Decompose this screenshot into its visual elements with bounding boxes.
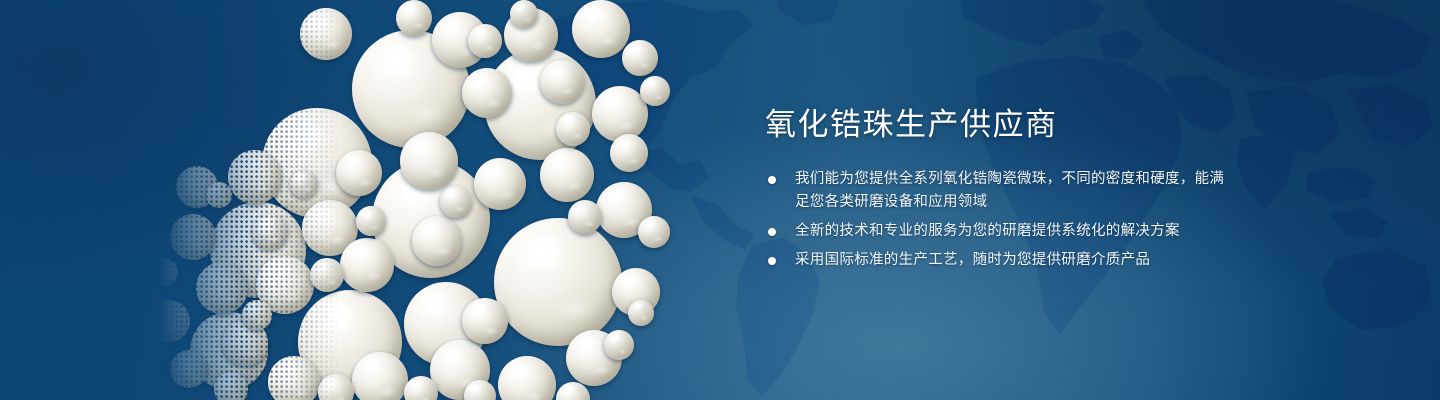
bullet-dot-icon [768,228,776,236]
bead [170,214,216,260]
banner-feature-list: 我们能为您提供全系列氧化锆陶瓷微珠，不同的密度和硬度，能满足您各类研磨设备和应用… [765,168,1235,278]
list-item-label: 我们能为您提供全系列氧化锆陶瓷微珠，不同的密度和硬度，能满足您各类研磨设备和应用… [795,168,1235,214]
bead [340,238,394,292]
bead [252,214,288,250]
bead [572,0,630,58]
bead [468,24,502,58]
bead [622,40,658,76]
bead-cluster [0,0,700,400]
bead [498,356,556,400]
bead [352,352,408,400]
bead [400,132,458,190]
bullet-dot-icon [768,257,776,265]
bead [628,300,654,326]
banner-content: 氧化锆珠生产供应商 我们能为您提供全系列氧化锆陶瓷微珠，不同的密度和硬度，能满足… [765,0,1365,400]
bead [462,68,512,118]
bead [228,150,282,204]
zirconia-beads-photo [0,0,700,400]
bead [494,218,622,346]
bead [640,76,670,106]
bead [336,150,382,196]
bead [396,0,432,36]
bead [610,134,648,172]
bullet-dot-icon [768,176,776,184]
list-item: 全新的技术和专业的服务为您的研磨提供系统化的解决方案 [765,220,1235,243]
bead [440,186,472,218]
bead [268,356,320,400]
list-item: 采用国际标准的生产工艺，随时为您提供研磨介质产品 [765,249,1235,272]
bead [540,148,594,202]
bead [148,300,190,342]
banner-title: 氧化锆珠生产供应商 [765,108,1058,143]
bead [206,182,232,208]
bead [462,298,508,344]
bead [604,330,634,360]
bead [540,60,584,104]
list-item-label: 采用国际标准的生产工艺，随时为您提供研磨介质产品 [795,249,1235,272]
bead [196,262,248,314]
hero-banner: 氧化锆珠生产供应商 我们能为您提供全系列氧化锆陶瓷微珠，不同的密度和硬度，能满足… [0,0,1440,400]
bead [412,216,462,266]
list-item-label: 全新的技术和专业的服务为您的研磨提供系统化的解决方案 [795,220,1235,243]
bead [568,200,602,234]
bead [214,372,248,400]
bead [170,350,208,388]
bead [464,380,496,400]
bead [150,258,178,286]
bead [300,8,352,60]
bead [474,158,526,210]
bead [556,112,590,146]
bead [290,170,318,198]
bead [310,258,344,292]
bead [242,300,272,330]
list-item: 我们能为您提供全系列氧化锆陶瓷微珠，不同的密度和硬度，能满足您各类研磨设备和应用… [765,168,1235,214]
bead [356,206,386,236]
bead [638,216,670,248]
bead [510,0,538,28]
